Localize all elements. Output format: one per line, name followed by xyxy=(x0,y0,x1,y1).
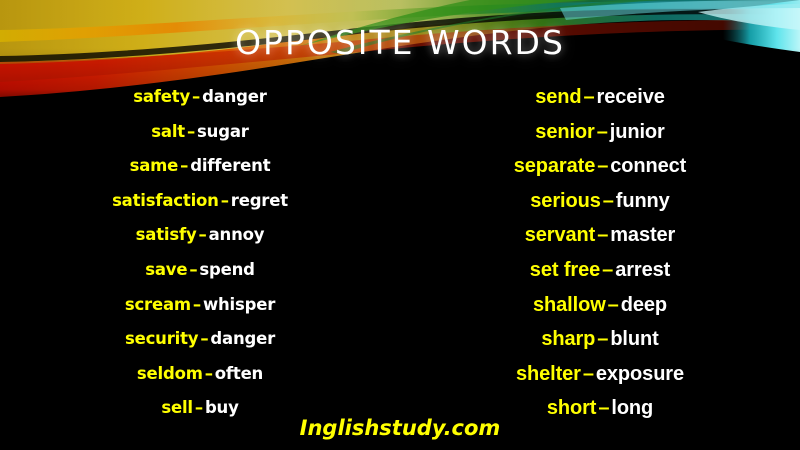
word-pair-row: separate–connect xyxy=(400,149,800,184)
word-term: separate xyxy=(514,155,595,177)
word-opposite: spend xyxy=(199,260,254,279)
word-term: salt xyxy=(151,122,185,141)
word-opposite: receive xyxy=(597,86,665,108)
right-column: send–receive senior–junior separate–conn… xyxy=(400,80,800,400)
word-term: sell xyxy=(161,398,193,417)
dash-separator: – xyxy=(193,398,205,417)
dash-separator: – xyxy=(600,259,615,281)
word-pair-row: shelter–exposure xyxy=(400,357,800,392)
dash-separator: – xyxy=(198,329,210,348)
word-pair-row: security–danger xyxy=(0,322,400,357)
word-opposite: annoy xyxy=(209,225,265,244)
word-term: scream xyxy=(125,295,191,314)
dash-separator: – xyxy=(606,294,621,316)
word-opposite: connect xyxy=(610,155,686,177)
word-term: security xyxy=(125,329,198,348)
word-opposite: funny xyxy=(616,190,670,212)
word-term: send xyxy=(535,86,581,108)
word-opposite: often xyxy=(215,364,263,383)
word-opposite: sugar xyxy=(197,122,249,141)
dash-separator: – xyxy=(190,87,202,106)
word-term: satisfy xyxy=(136,225,197,244)
dash-separator: – xyxy=(219,191,231,210)
word-term: shallow xyxy=(533,294,606,316)
word-opposite: master xyxy=(610,224,675,246)
slide-canvas: OPPOSITE WORDS safety–danger salt–sugar … xyxy=(0,0,800,450)
dash-separator: – xyxy=(581,86,596,108)
word-pair-row: send–receive xyxy=(400,80,800,115)
word-term: short xyxy=(547,397,597,419)
dash-separator: – xyxy=(581,363,596,385)
word-pair-row: senior–junior xyxy=(400,115,800,150)
word-opposite: junior xyxy=(610,121,665,143)
word-pair-row: seldom–often xyxy=(0,357,400,392)
word-pair-row: same–different xyxy=(0,149,400,184)
word-term: sharp xyxy=(541,328,595,350)
word-term: same xyxy=(130,156,179,175)
dash-separator: – xyxy=(596,397,611,419)
word-opposite: different xyxy=(190,156,270,175)
word-term: satisfaction xyxy=(112,191,219,210)
dash-separator: – xyxy=(595,155,610,177)
word-pair-row: satisfy–annoy xyxy=(0,218,400,253)
word-term: seldom xyxy=(137,364,203,383)
word-opposite: whisper xyxy=(203,295,275,314)
word-opposite: buy xyxy=(205,398,239,417)
word-opposite: arrest xyxy=(615,259,670,281)
dash-separator: – xyxy=(601,190,616,212)
word-pair-row: serious–funny xyxy=(400,184,800,219)
word-pair-row: scream–whisper xyxy=(0,288,400,323)
dash-separator: – xyxy=(191,295,203,314)
dash-separator: – xyxy=(595,328,610,350)
word-pair-row: servant–master xyxy=(400,218,800,253)
word-pair-row: satisfaction–regret xyxy=(0,184,400,219)
word-opposite: exposure xyxy=(596,363,684,385)
word-term: senior xyxy=(535,121,594,143)
word-pair-row: set free–arrest xyxy=(400,253,800,288)
word-term: servant xyxy=(525,224,595,246)
left-column: safety–danger salt–sugar same–different … xyxy=(0,80,400,400)
word-term: serious xyxy=(530,190,600,212)
word-pair-row: safety–danger xyxy=(0,80,400,115)
dash-separator: – xyxy=(197,225,209,244)
word-term: save xyxy=(145,260,187,279)
word-pair-row: sharp–blunt xyxy=(400,322,800,357)
dash-separator: – xyxy=(595,121,610,143)
word-opposite: danger xyxy=(202,87,267,106)
word-pair-row: salt–sugar xyxy=(0,115,400,150)
site-watermark: Inglishstudy.com xyxy=(0,418,800,439)
page-title: OPPOSITE WORDS xyxy=(0,26,800,59)
dash-separator: – xyxy=(178,156,190,175)
word-term: set free xyxy=(530,259,600,281)
dash-separator: – xyxy=(203,364,215,383)
word-opposite: danger xyxy=(210,329,275,348)
word-opposite: long xyxy=(611,397,653,419)
dash-separator: – xyxy=(595,224,610,246)
dash-separator: – xyxy=(187,260,199,279)
word-term: safety xyxy=(133,87,190,106)
word-opposite: blunt xyxy=(610,328,658,350)
word-pair-row: save–spend xyxy=(0,253,400,288)
dash-separator: – xyxy=(185,122,197,141)
word-opposite: regret xyxy=(231,191,288,210)
word-pair-row: shallow–deep xyxy=(400,288,800,323)
word-term: shelter xyxy=(516,363,581,385)
word-opposite: deep xyxy=(621,294,667,316)
word-pair-columns: safety–danger salt–sugar same–different … xyxy=(0,80,800,400)
